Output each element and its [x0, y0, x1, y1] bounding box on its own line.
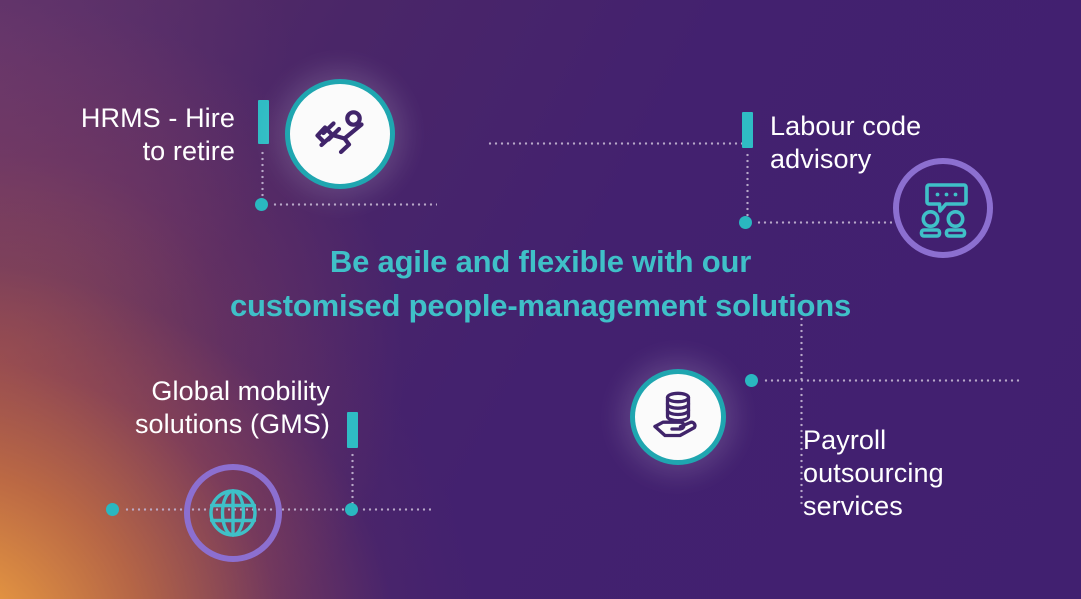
- connector-payroll-horizontal: [763, 379, 1021, 382]
- connector-hrms-vertical: [261, 150, 264, 202]
- connector-gms-horizontal-right: [361, 508, 431, 511]
- accent-bar-gms: [347, 412, 358, 448]
- page-headline: Be agile and flexible with our customise…: [0, 240, 1081, 328]
- node-dot-hrms: [255, 198, 268, 211]
- connector-labour-vertical: [746, 152, 749, 220]
- coins-in-hand-icon: [649, 388, 707, 446]
- connector-labour-horizontal-left: [487, 142, 745, 145]
- node-dot-labour-code: [739, 216, 752, 229]
- infographic-canvas: HRMS - Hire to retire Labour code adviso…: [0, 0, 1081, 599]
- label-labour-code-advisory: Labour code advisory: [770, 110, 1050, 176]
- accent-bar-labour-code: [742, 112, 753, 148]
- globe-icon: [204, 484, 262, 542]
- node-dot-gms-left: [106, 503, 119, 516]
- label-global-mobility-solutions: Global mobility solutions (GMS): [60, 375, 330, 441]
- speech-bubble-people-icon: [912, 177, 974, 239]
- icon-badge-labour-code-advisory: [893, 158, 993, 258]
- flying-person-icon: [308, 102, 372, 166]
- node-dot-payroll: [745, 374, 758, 387]
- connector-gms-vertical: [351, 452, 354, 504]
- accent-bar-hrms: [258, 100, 269, 144]
- connector-labour-horizontal-right: [756, 221, 892, 224]
- connector-hrms-horizontal: [272, 203, 437, 206]
- label-hrms: HRMS - Hire to retire: [30, 102, 235, 168]
- icon-badge-payroll: [630, 369, 726, 465]
- label-payroll-outsourcing-services: Payroll outsourcing services: [803, 424, 1053, 523]
- icon-badge-global-mobility: [184, 464, 282, 562]
- icon-badge-hrms: [285, 79, 395, 189]
